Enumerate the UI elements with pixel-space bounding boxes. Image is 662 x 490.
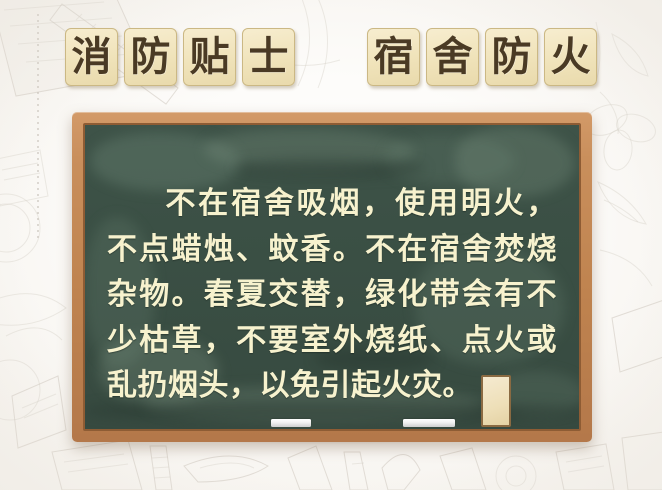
poster-title: 消 防 贴 士 宿 舍 防 火: [0, 22, 662, 92]
title-tile: 防: [124, 28, 177, 86]
poster-canvas: 消 防 贴 士 宿 舍 防 火: [0, 0, 662, 490]
chalk-smudge: [235, 159, 425, 177]
sketch-paper-midleft: [0, 150, 48, 206]
title-tile: 贴: [183, 28, 236, 86]
title-group-dorm-fire-prevention: 宿 舍 防 火: [367, 28, 597, 86]
sketch-circles-left: [0, 194, 40, 420]
title-tile: 士: [242, 28, 295, 86]
sketch-leaves-right: [598, 182, 662, 372]
blackboard: 不在宿舍吸烟，使用明火，不点蜡烛、蚊香。不在宿舍焚烧杂物。春夏交替，绿化带会有不…: [72, 112, 592, 442]
sketch-book-left: [0, 294, 66, 448]
blackboard-message-text: 不在宿舍吸烟，使用明火，不点蜡烛、蚊香。不在宿舍焚烧杂物。春夏交替，绿化带会有不…: [107, 186, 557, 403]
blackboard-inner-border: 不在宿舍吸烟，使用明火，不点蜡烛、蚊香。不在宿舍焚烧杂物。春夏交替，绿化带会有不…: [83, 123, 581, 431]
title-tile: 防: [485, 28, 538, 86]
title-tile: 舍: [426, 28, 479, 86]
blackboard-surface: 不在宿舍吸烟，使用明火，不点蜡烛、蚊香。不在宿舍焚烧杂物。春夏交替，绿化带会有不…: [85, 125, 579, 429]
blackboard-eraser[interactable]: [481, 375, 511, 427]
chalk-stick-right[interactable]: [403, 419, 455, 427]
title-tile: 宿: [367, 28, 420, 86]
blackboard-wooden-frame: 不在宿舍吸烟，使用明火，不点蜡烛、蚊香。不在宿舍焚烧杂物。春夏交替，绿化带会有不…: [72, 112, 592, 442]
title-tile: 火: [544, 28, 597, 86]
title-tile: 消: [65, 28, 118, 86]
title-group-fire-safety-tips: 消 防 贴 士: [65, 28, 295, 86]
chalk-stick-left[interactable]: [271, 419, 311, 427]
